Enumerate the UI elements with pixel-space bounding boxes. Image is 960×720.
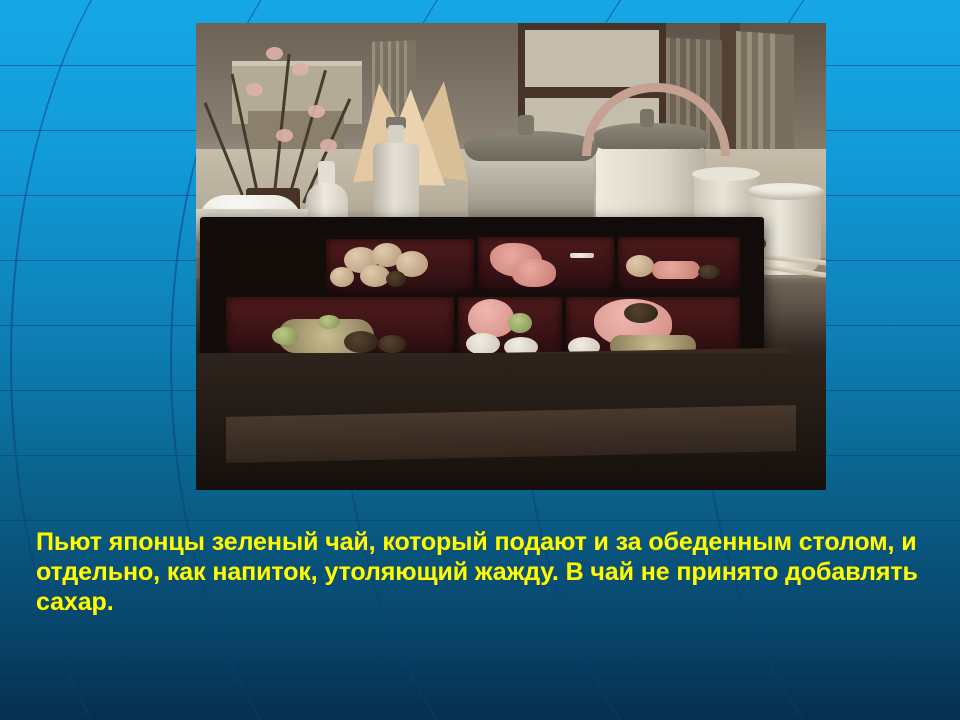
- bento-compartment: [226, 297, 454, 357]
- blossom: [292, 63, 309, 76]
- blossom: [308, 105, 325, 118]
- teapot-knob: [640, 109, 654, 127]
- food-item: [570, 253, 594, 258]
- teapot-knob: [518, 115, 534, 135]
- teapot-lid: [464, 131, 598, 161]
- food-item: [508, 313, 532, 333]
- latitude-line: [0, 520, 960, 521]
- bento-compartment: [618, 237, 740, 291]
- food-item: [624, 303, 658, 323]
- blossom: [320, 139, 337, 152]
- food-item: [512, 259, 556, 287]
- food-item: [272, 327, 298, 345]
- latitude-line: [0, 650, 960, 651]
- bento-compartment: [566, 297, 740, 357]
- food-item: [386, 271, 406, 287]
- food-item: [468, 299, 514, 337]
- bento-photograph: [196, 23, 826, 490]
- slide-photo: [196, 23, 826, 490]
- blossom: [266, 47, 283, 60]
- food-item: [378, 335, 406, 353]
- presentation-slide: Пьют японцы зеленый чай, который подают …: [0, 0, 960, 720]
- slide-caption: Пьют японцы зеленый чай, который подают …: [36, 527, 922, 617]
- food-item: [652, 261, 700, 279]
- food-item: [344, 331, 378, 353]
- teapot-lid: [594, 123, 708, 149]
- bento-interior: [222, 235, 742, 357]
- food-item: [330, 267, 354, 287]
- tea-cup-rim: [746, 183, 824, 200]
- food-item: [698, 265, 720, 279]
- bento-compartment: [326, 239, 474, 293]
- blossom: [246, 83, 263, 96]
- blossom: [276, 129, 293, 142]
- flower-branches: [224, 43, 332, 193]
- tea-cup-rim: [692, 167, 760, 181]
- food-item: [318, 315, 340, 329]
- bento-compartment: [458, 297, 562, 357]
- food-item: [466, 333, 500, 355]
- wooden-chair: [736, 31, 794, 155]
- food-item: [626, 255, 654, 277]
- bento-compartment: [478, 237, 614, 291]
